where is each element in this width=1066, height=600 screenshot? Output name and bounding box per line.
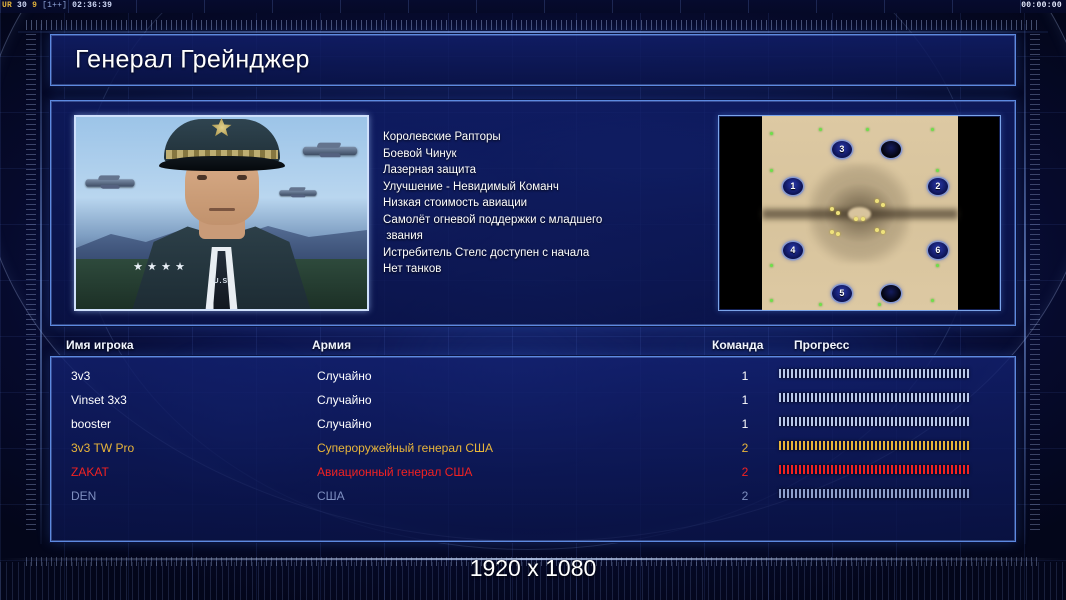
status-value-1: 30 (17, 1, 27, 10)
map-start-position[interactable]: 6 (928, 242, 948, 259)
map-start-position[interactable]: 5 (832, 285, 852, 302)
us-insignia-label: U.S. (214, 278, 232, 285)
table-row[interactable]: ZAKATАвиационный генерал США2 (55, 461, 1011, 485)
player-name: 3v3 TW Pro (71, 441, 134, 455)
oil-derrick-icon (861, 217, 865, 221)
column-header-team: Команда (712, 338, 763, 352)
player-army: Случайно (317, 393, 372, 407)
column-header-army: Армия (312, 338, 351, 352)
player-name: 3v3 (71, 369, 90, 383)
player-progress (779, 393, 969, 402)
oil-derrick-icon (854, 217, 858, 221)
player-name: DEN (71, 489, 96, 503)
map-start-position[interactable]: 3 (832, 141, 852, 158)
table-row[interactable]: 3v3Случайно1 (55, 365, 1011, 389)
player-team: 2 (725, 441, 765, 455)
frame-ruler-right (1030, 34, 1040, 534)
map-start-position[interactable]: 2 (928, 178, 948, 195)
progress-bar (779, 369, 969, 378)
player-rows: 3v3Случайно1Vinset 3x3Случайно1boosterСл… (55, 361, 1011, 537)
map-start-position[interactable]: 4 (783, 242, 803, 259)
player-army: Авиационный генерал США (317, 465, 472, 479)
status-value-2: 9 (32, 1, 37, 10)
table-row[interactable]: boosterСлучайно1 (55, 413, 1011, 437)
description-line: Истребитель Стелс доступен с начала (383, 245, 683, 262)
progress-bar (779, 417, 969, 426)
officer-figure: U.S. (116, 127, 328, 309)
general-description: Королевские РапторыБоевой ЧинукЛазерная … (383, 129, 683, 278)
general-portrait: U.S. (74, 115, 369, 311)
oil-derrick-icon (881, 203, 885, 207)
oil-derrick-icon (830, 207, 834, 211)
player-team: 1 (725, 417, 765, 431)
supply-dot-icon (770, 132, 773, 135)
supply-dot-icon (819, 303, 822, 306)
status-bracket: [1++] (42, 1, 67, 10)
star-icon (134, 262, 143, 271)
player-progress (779, 465, 969, 474)
game-lobby-screen: UR 30 9 [1++] 02:36:39 00:00:00 Генерал … (0, 0, 1066, 600)
map-start-position[interactable] (881, 141, 901, 158)
description-line: Самолёт огневой поддержки с младшего (383, 212, 683, 229)
frame-line-top (18, 31, 1048, 33)
supply-dot-icon (936, 169, 939, 172)
description-line: Боевой Чинук (383, 146, 683, 163)
description-line: Нет танков (383, 261, 683, 278)
status-time: 02:36:39 (72, 1, 112, 10)
frame-ruler-left (26, 34, 36, 534)
frame-vline-right (1024, 24, 1026, 544)
player-name: ZAKAT (71, 465, 109, 479)
player-progress (779, 417, 969, 426)
status-left-group: UR 30 9 [1++] 02:36:39 (2, 1, 112, 10)
officer-cap-brim (159, 156, 285, 171)
player-army: США (317, 489, 345, 503)
star-icon (148, 262, 157, 271)
supply-dot-icon (931, 128, 934, 131)
supply-dot-icon (931, 299, 934, 302)
description-line: Лазерная защита (383, 162, 683, 179)
general-info-panel: U.S. Королевские РапторыБоевой ЧинукЛазе… (50, 100, 1016, 326)
player-team: 2 (725, 465, 765, 479)
progress-bar (779, 393, 969, 402)
player-name: Vinset 3x3 (71, 393, 127, 407)
officer-mouth (209, 208, 235, 211)
frame-ruler-top (26, 20, 1040, 30)
page-title: Генерал Грейнджер (75, 46, 310, 75)
description-line: Улучшение - Невидимый Команч (383, 179, 683, 196)
column-header-name: Имя игрока (66, 338, 134, 352)
table-row[interactable]: DENСША2 (55, 485, 1011, 509)
star-icon (176, 262, 185, 271)
status-right-time: 00:00:00 (1021, 1, 1062, 10)
star-icon (162, 262, 171, 271)
map-center-island (848, 207, 872, 221)
player-table-header: Имя игрока Армия Команда Прогресс (50, 338, 1016, 358)
status-bar: UR 30 9 [1++] 02:36:39 00:00:00 (0, 0, 1066, 13)
frame-vline-left (40, 24, 42, 544)
progress-bar (779, 441, 969, 450)
player-army: Супероружейный генерал США (317, 441, 493, 455)
status-bar-ticks (0, 0, 1066, 13)
player-team: 1 (725, 369, 765, 383)
supply-dot-icon (770, 299, 773, 302)
resolution-label: 1920 x 1080 (0, 555, 1066, 582)
map-preview[interactable]: 312465 (718, 115, 1001, 311)
player-name: booster (71, 417, 111, 431)
player-army: Случайно (317, 417, 372, 431)
column-header-progress: Прогресс (794, 338, 849, 352)
supply-dot-icon (936, 264, 939, 267)
player-progress (779, 441, 969, 450)
supply-dot-icon (770, 169, 773, 172)
description-line: звания (383, 228, 683, 245)
supply-dot-icon (819, 128, 822, 131)
description-line: Королевские Рапторы (383, 129, 683, 146)
status-prefix: UR (2, 1, 12, 10)
player-team: 2 (725, 489, 765, 503)
player-list-panel: 3v3Случайно1Vinset 3x3Случайно1boosterСл… (50, 356, 1016, 542)
map-start-position[interactable]: 1 (783, 178, 803, 195)
player-team: 1 (725, 393, 765, 407)
table-row[interactable]: Vinset 3x3Случайно1 (55, 389, 1011, 413)
supply-dot-icon (878, 303, 881, 306)
player-progress (779, 489, 969, 498)
rank-stars (134, 262, 185, 271)
description-line: Низкая стоимость авиации (383, 195, 683, 212)
oil-derrick-icon (881, 230, 885, 234)
supply-dot-icon (770, 264, 773, 267)
supply-dot-icon (866, 128, 869, 131)
progress-bar (779, 465, 969, 474)
table-row[interactable]: 3v3 TW ProСупероружейный генерал США2 (55, 437, 1011, 461)
map-start-position[interactable] (881, 285, 901, 302)
title-panel: Генерал Грейнджер (50, 34, 1016, 86)
player-progress (779, 369, 969, 378)
player-army: Случайно (317, 369, 372, 383)
map-image: 312465 (762, 116, 958, 310)
progress-bar (779, 489, 969, 498)
